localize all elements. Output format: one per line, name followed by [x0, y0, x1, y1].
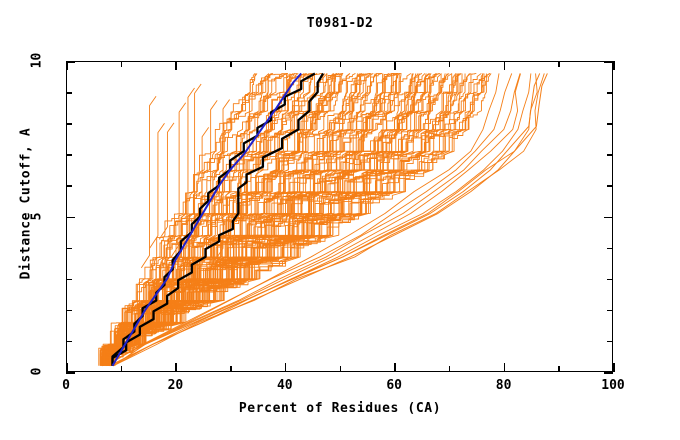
axis-tick	[394, 363, 396, 372]
chart-root: T0981-D2 020406080100 0510 Percent of Re…	[0, 0, 680, 440]
x-tick-label: 80	[484, 378, 524, 393]
axis-tick	[607, 310, 613, 312]
axis-tick	[504, 363, 506, 372]
axis-tick	[66, 279, 72, 281]
y-tick-label: 10	[30, 50, 45, 72]
prediction-curve	[171, 103, 186, 257]
axis-tick	[121, 61, 123, 67]
prediction-curve	[159, 123, 174, 239]
axis-tick	[607, 123, 613, 125]
axis-tick	[394, 61, 396, 70]
chart-title: T0981-D2	[0, 16, 680, 31]
axis-tick	[66, 372, 75, 374]
axis-tick	[604, 372, 613, 374]
axis-tick	[613, 61, 615, 70]
axis-tick	[604, 217, 613, 219]
x-tick-label: 40	[265, 378, 305, 393]
axis-tick	[340, 366, 342, 372]
x-tick-label: 60	[374, 378, 414, 393]
axis-tick	[230, 366, 232, 372]
axis-tick	[558, 61, 560, 67]
axis-tick	[607, 154, 613, 156]
x-axis-label: Percent of Residues (CA)	[0, 401, 680, 416]
axis-tick	[504, 61, 506, 70]
axis-tick	[607, 248, 613, 250]
axis-tick	[66, 217, 75, 219]
axis-tick	[230, 61, 232, 67]
axis-tick	[613, 363, 615, 372]
axis-tick	[66, 154, 72, 156]
axis-tick	[285, 61, 287, 70]
axis-tick	[340, 61, 342, 67]
plot-area	[66, 61, 613, 372]
axis-tick	[607, 279, 613, 281]
axis-tick	[66, 92, 72, 94]
x-tick-label: 0	[46, 378, 86, 393]
x-tick-label: 20	[155, 378, 195, 393]
axis-tick	[66, 310, 72, 312]
axis-tick	[607, 92, 613, 94]
axis-tick	[285, 363, 287, 372]
axis-tick	[66, 123, 72, 125]
y-axis-label: Distance Cutoff, A	[19, 74, 34, 334]
axis-tick	[449, 61, 451, 67]
axis-tick	[66, 248, 72, 250]
axis-tick	[66, 363, 68, 372]
curves-layer	[66, 61, 613, 372]
axis-tick	[121, 366, 123, 372]
axis-tick	[607, 185, 613, 187]
axis-tick	[604, 61, 613, 63]
axis-tick	[175, 61, 177, 70]
axis-tick	[66, 185, 72, 187]
axis-tick	[66, 61, 75, 63]
axis-tick	[449, 366, 451, 372]
prediction-curve	[150, 123, 165, 248]
x-tick-label: 100	[593, 378, 633, 393]
axis-tick	[175, 363, 177, 372]
axis-tick	[66, 341, 72, 343]
y-tick-label: 0	[30, 361, 45, 383]
axis-tick	[607, 341, 613, 343]
axis-tick	[558, 366, 560, 372]
